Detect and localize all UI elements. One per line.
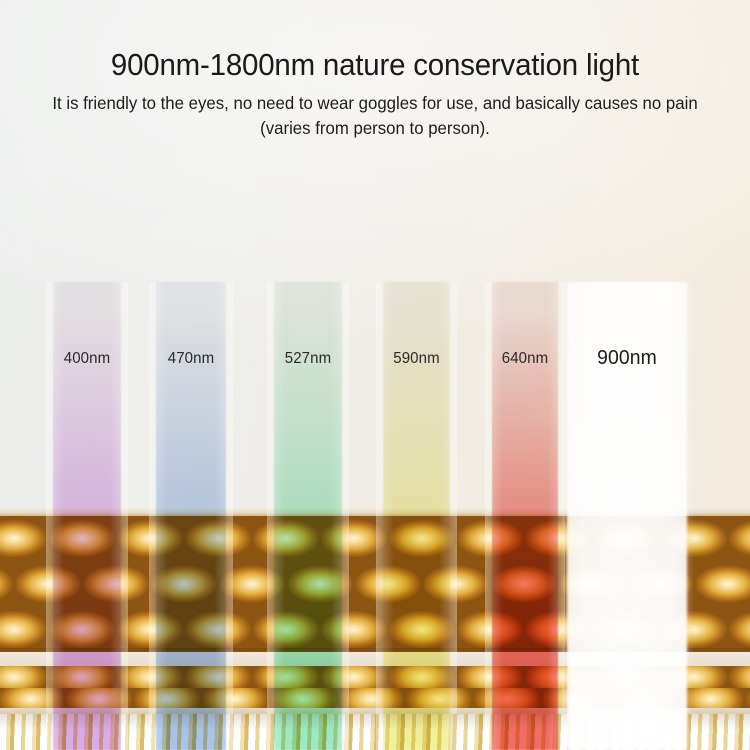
page-title: 900nm-1800nm nature conservation light	[19, 46, 732, 84]
header: 900nm-1800nm nature conservation light I…	[0, 0, 750, 141]
wavelength-label-900nm: 900nm	[569, 347, 685, 370]
product-infographic: 400nm470nm527nm590nm640nm900nm 900nm-180…	[0, 0, 750, 750]
wavelength-label-590nm: 590nm	[384, 350, 449, 368]
wavelength-label-470nm: 470nm	[157, 350, 225, 368]
wavelength-label-527nm: 527nm	[275, 350, 341, 368]
wavelength-label-400nm: 400nm	[54, 350, 120, 368]
page-subtitle: It is friendly to the eyes, no need to w…	[15, 91, 735, 141]
wavelength-label-640nm: 640nm	[493, 350, 557, 368]
